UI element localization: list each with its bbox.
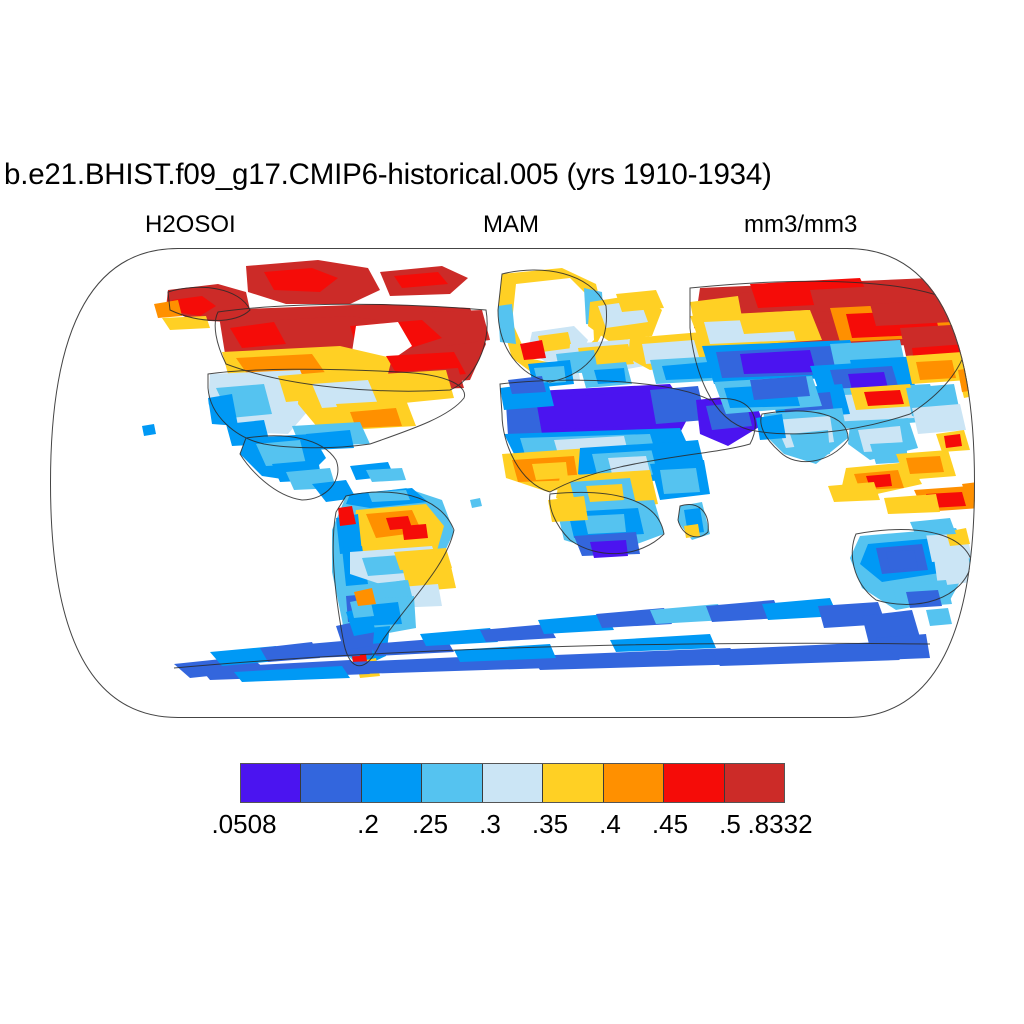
- colorbar-cell: [241, 764, 301, 802]
- colorbar-cell: [301, 764, 361, 802]
- colorbar-tick-label: .45: [652, 808, 688, 840]
- climate-map-figure: b.e21.BHIST.f09_g17.CMIP6-historical.005…: [0, 0, 1024, 1024]
- colorbar-cell: [362, 764, 422, 802]
- colorbar-tick-label: .3: [479, 808, 501, 840]
- colorbar-tick-label: .2: [357, 808, 379, 840]
- variable-label: H2OSOI: [145, 211, 236, 239]
- colorbar-tick-label: .0508: [211, 808, 276, 840]
- colorbar-cell: [543, 764, 603, 802]
- colorbar-cell: [725, 764, 784, 802]
- units-label: mm3/mm3: [744, 211, 857, 239]
- map-plot-area: [50, 248, 975, 718]
- colorbar-tick-label: .8332: [747, 808, 812, 840]
- colorbar: [240, 763, 785, 803]
- colorbar-cell: [604, 764, 664, 802]
- colorbar-tick-label: .35: [532, 808, 568, 840]
- world-map-svg: [50, 248, 975, 718]
- colorbar-tick-label: .4: [599, 808, 621, 840]
- season-label: MAM: [483, 211, 539, 239]
- colorbar-tick-label: .25: [412, 808, 448, 840]
- colorbar-cell: [483, 764, 543, 802]
- colorbar-cell: [664, 764, 724, 802]
- colorbar-tick-label: .5: [719, 808, 741, 840]
- colorbar-cell: [422, 764, 482, 802]
- page-title: b.e21.BHIST.f09_g17.CMIP6-historical.005…: [4, 157, 1020, 193]
- colorbar-labels: .0508 .2 .25 .3 .35 .4 .45 .5 .8332: [0, 808, 1024, 842]
